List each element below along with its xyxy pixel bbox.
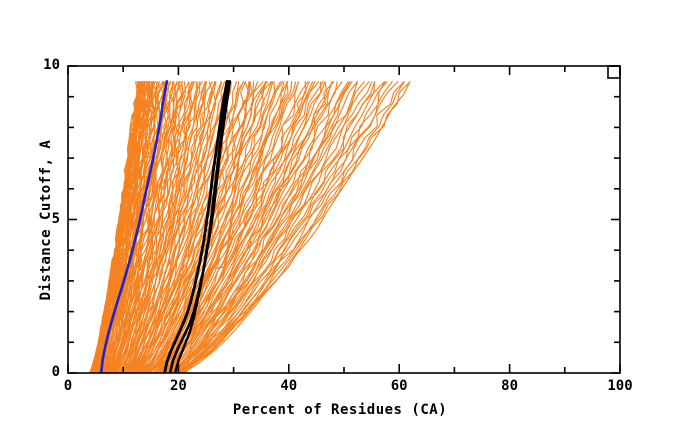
y-axis-label: Distance Cutoff, A — [38, 70, 54, 370]
x-tick-label: 80 — [480, 378, 540, 394]
x-tick-label: 40 — [259, 378, 319, 394]
plot-canvas — [0, 0, 680, 440]
x-tick-label: 60 — [369, 378, 429, 394]
x-tick-label: 20 — [148, 378, 208, 394]
x-tick-label: 100 — [590, 378, 650, 394]
x-tick-label: 0 — [38, 378, 98, 394]
chart-container: T0963 0204060801000510 Percent of Residu… — [0, 0, 680, 440]
x-axis-label: Percent of Residues (CA) — [0, 402, 680, 418]
